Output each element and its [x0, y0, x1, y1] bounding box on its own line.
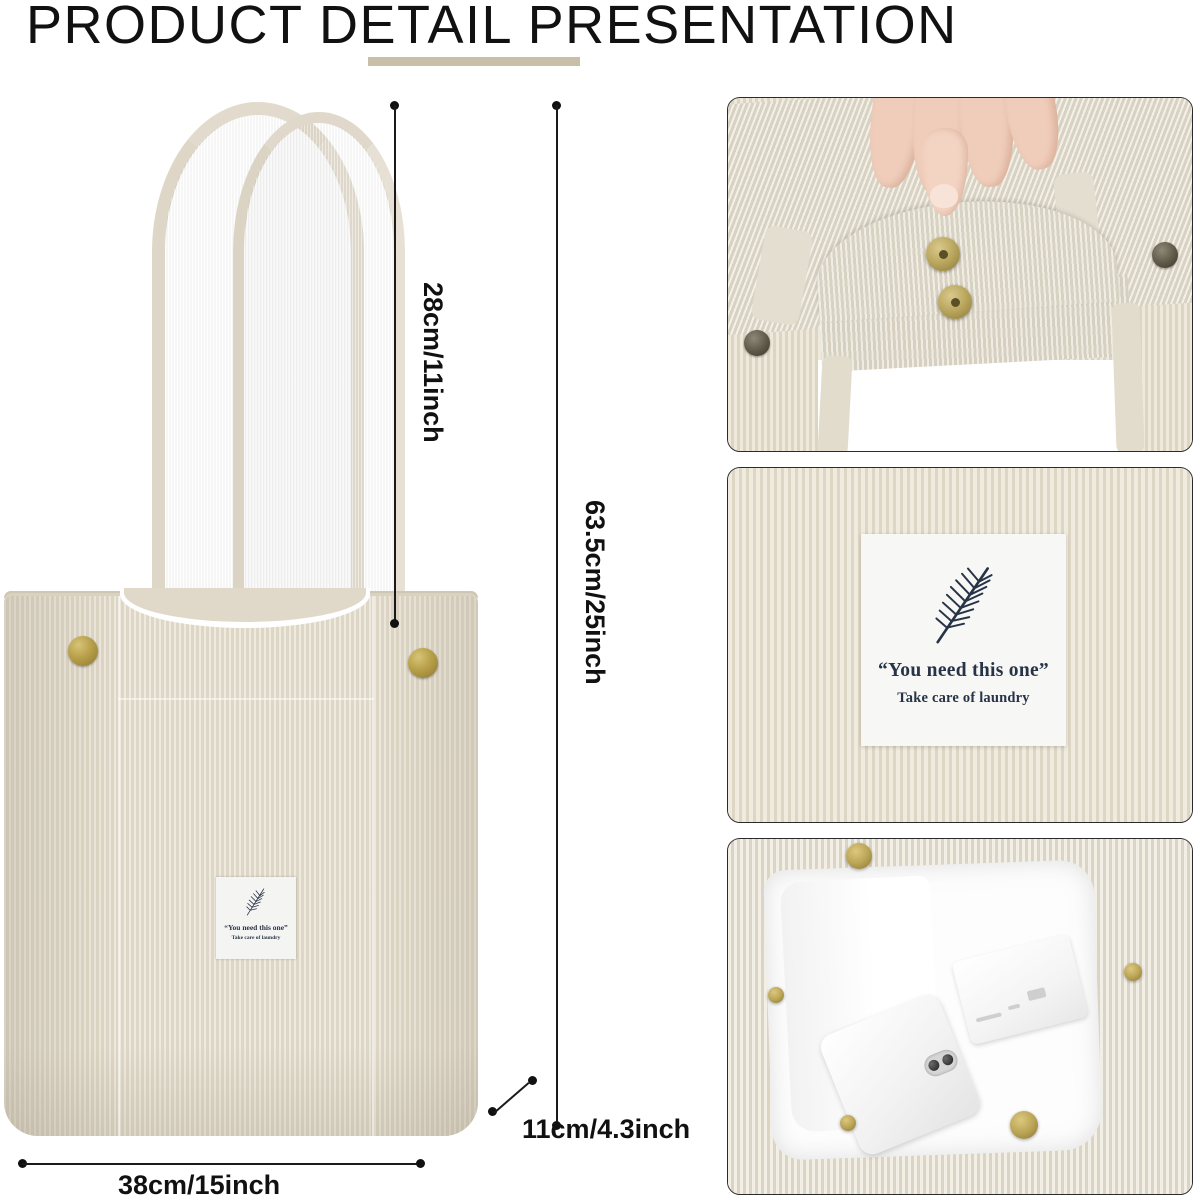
label-quote: “You need this one”: [878, 660, 1049, 682]
product-detail-page: PRODUCT DETAIL PRESENTATION: [0, 0, 1200, 1203]
panel3-snap-left: [768, 987, 784, 1003]
label-quote: “You need this one”: [224, 923, 288, 932]
dim-strap-drop-dot-bottom: [390, 619, 399, 628]
page-header: PRODUCT DETAIL PRESENTATION: [0, 0, 1200, 88]
bag-strap-right: [233, 112, 405, 662]
magnetic-snap-bottom: [938, 285, 972, 319]
bag-seam-top: [118, 698, 374, 700]
page-title: PRODUCT DETAIL PRESENTATION: [26, 0, 958, 52]
bag-woven-label: “You need this one” Take care of laundry: [216, 877, 296, 959]
bag-shadow-bottom: [4, 1046, 478, 1136]
panel3-snap-right: [1124, 963, 1142, 981]
feather-icon: [241, 884, 271, 918]
bag-body: [4, 596, 478, 1136]
panel-woven-label[interactable]: “You need this one” Take care of laundry: [727, 467, 1193, 823]
dim-total-height-line: [556, 105, 558, 1127]
feather-icon: [924, 558, 1004, 650]
panel1-backdrop: [818, 360, 1118, 452]
panel-magnetic-snap[interactable]: [727, 97, 1193, 452]
magnetic-snap-top: [926, 237, 960, 271]
panel-interior[interactable]: [727, 838, 1193, 1195]
bag-seam-right: [372, 596, 374, 1136]
dim-strap-drop-line: [394, 105, 396, 625]
brass-snap-left: [68, 636, 98, 666]
dim-label-total-height: 63.5cm/25inch: [579, 500, 610, 685]
dim-width-line: [22, 1163, 420, 1165]
panel3-snap-top: [846, 843, 872, 869]
panel1-strap-left: [817, 355, 852, 452]
dim-label-strap-drop: 28cm/11inch: [417, 282, 448, 443]
panel1-side-snap-right: [1152, 242, 1178, 268]
dim-label-width: 38cm/15inch: [118, 1170, 280, 1201]
panel3-snap-bottom-right: [1010, 1111, 1038, 1139]
dim-depth-dot-upper: [528, 1076, 537, 1085]
bag-seam-left: [118, 596, 120, 1136]
panel1-strap-right: [1111, 303, 1144, 452]
title-underline-accent: [368, 57, 580, 66]
dim-width-dot-right: [416, 1159, 425, 1168]
panel3-snap-bottom-left: [840, 1115, 856, 1131]
brass-snap-right: [408, 648, 438, 678]
label-tagline: Take care of laundry: [232, 935, 281, 941]
hand-opening-snap: [860, 97, 1070, 228]
panel1-side-snap-left: [744, 330, 770, 356]
woven-label-closeup: “You need this one” Take care of laundry: [861, 534, 1066, 746]
dim-label-depth: 11cm/4.3inch: [522, 1114, 690, 1145]
label-tagline: Take care of laundry: [897, 690, 1030, 707]
